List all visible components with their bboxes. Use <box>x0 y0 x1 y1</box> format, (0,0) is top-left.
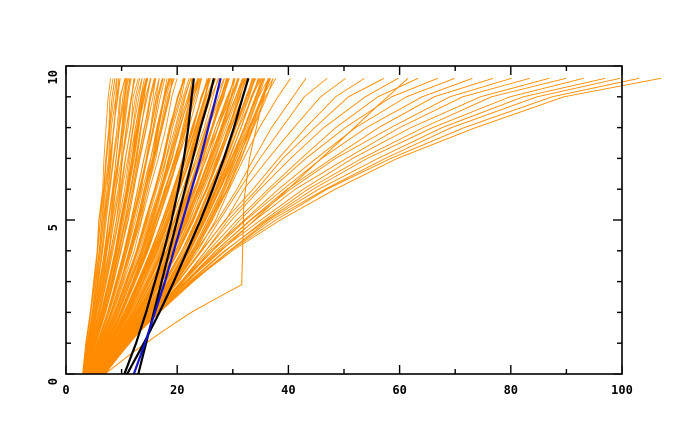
x-tick-label: 100 <box>611 383 633 397</box>
x-tick-label: 40 <box>281 383 295 397</box>
y-tick-label: 5 <box>46 224 60 231</box>
plot-canvas: 0204060801000510 <box>0 0 680 440</box>
x-tick-label: 80 <box>504 383 518 397</box>
x-tick-label: 20 <box>170 383 184 397</box>
x-tick-label: 0 <box>62 383 69 397</box>
y-tick-label: 0 <box>46 378 60 385</box>
chart-panel: T0963 Percent of Residues (CA) Distance … <box>0 0 680 440</box>
x-tick-label: 60 <box>392 383 406 397</box>
y-tick-label: 10 <box>46 70 60 84</box>
